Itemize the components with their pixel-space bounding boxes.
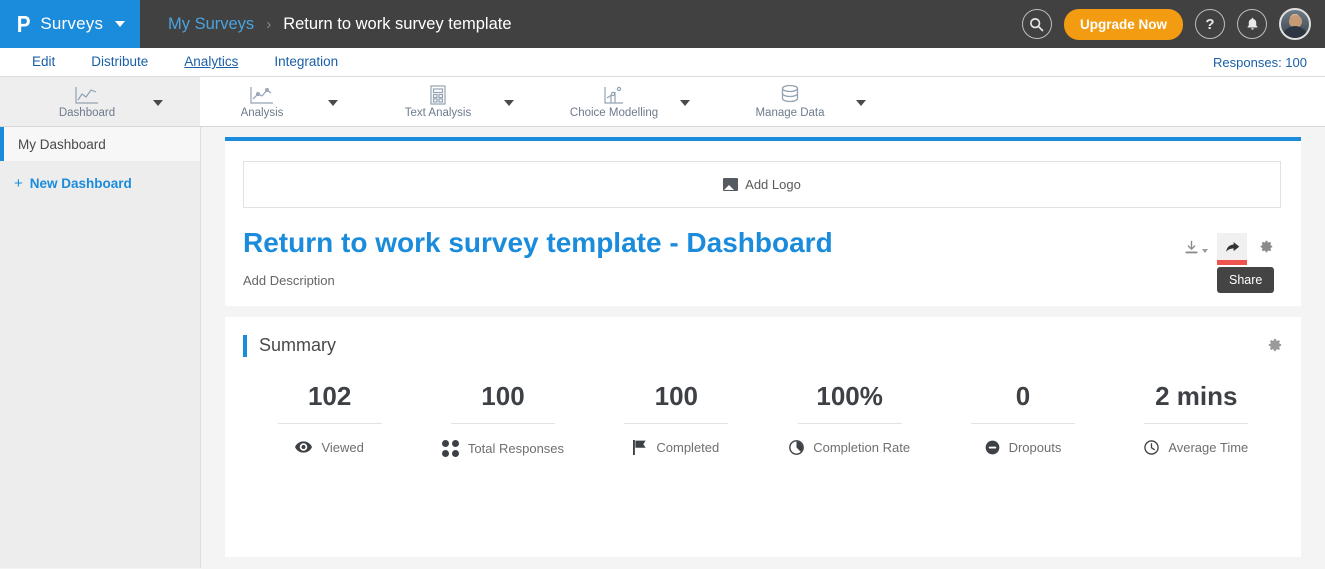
stat-value: 100 bbox=[655, 383, 698, 423]
dashboard-main: Add Logo Return to work survey template … bbox=[201, 127, 1325, 568]
stat-label: Total Responses bbox=[468, 441, 564, 456]
toolbar-item-manage-data[interactable]: Manage Data bbox=[730, 77, 850, 126]
toolbar-group-text-analysis: Text Analysis bbox=[376, 77, 552, 126]
stat-dropouts: 0 Dropouts bbox=[936, 383, 1109, 457]
stat-divider bbox=[1144, 423, 1248, 424]
stat-label-row: Viewed bbox=[295, 440, 363, 455]
stat-label-row: Dropouts bbox=[985, 440, 1062, 455]
dashboard-title-block: Return to work survey template - Dashboa… bbox=[243, 228, 1179, 288]
dashboard-action-buttons: Share bbox=[1179, 228, 1281, 261]
sidebar-item-label: My Dashboard bbox=[18, 137, 106, 152]
chevron-down-icon[interactable] bbox=[115, 21, 125, 27]
new-dashboard-label: New Dashboard bbox=[30, 176, 132, 191]
analytics-toolbar: Dashboard Analysis bbox=[0, 77, 1325, 127]
tab-edit[interactable]: Edit bbox=[14, 48, 73, 76]
four-dots-icon bbox=[442, 440, 459, 457]
document-grid-icon bbox=[427, 84, 449, 106]
toolbar-item-text-analysis[interactable]: Text Analysis bbox=[378, 77, 498, 126]
flag-icon bbox=[633, 440, 647, 455]
image-icon bbox=[723, 178, 738, 191]
stat-value: 102 bbox=[308, 383, 351, 423]
brand-label: Surveys bbox=[40, 14, 103, 34]
database-icon bbox=[778, 84, 802, 106]
choice-modelling-dropdown-caret-icon[interactable] bbox=[680, 100, 690, 106]
stat-completed: 100 Completed bbox=[590, 383, 763, 457]
stat-value: 100% bbox=[816, 383, 883, 423]
line-chart-icon bbox=[74, 84, 100, 106]
stat-label-row: Average Time bbox=[1144, 440, 1248, 455]
tab-distribute[interactable]: Distribute bbox=[73, 48, 166, 76]
stat-label: Viewed bbox=[321, 440, 363, 455]
stat-divider bbox=[278, 423, 382, 424]
toolbar-label-dashboard: Dashboard bbox=[59, 107, 115, 119]
tab-integration[interactable]: Integration bbox=[256, 48, 356, 76]
stat-label: Completed bbox=[656, 440, 719, 455]
eye-icon bbox=[295, 441, 312, 453]
notifications-bell-icon[interactable] bbox=[1237, 9, 1267, 39]
search-icon[interactable] bbox=[1022, 9, 1052, 39]
page-title[interactable]: Return to work survey template - Dashboa… bbox=[243, 228, 1179, 259]
summary-stats-row: 102 Viewed 100 bbox=[243, 383, 1283, 457]
stat-value: 2 mins bbox=[1155, 383, 1237, 423]
analysis-dropdown-caret-icon[interactable] bbox=[328, 100, 338, 106]
dashboard-sidebar: My Dashboard + New Dashboard bbox=[0, 127, 201, 568]
toolbar-item-analysis[interactable]: Analysis bbox=[202, 77, 322, 126]
toolbar-group-choice-modelling: Choice Modelling bbox=[552, 77, 728, 126]
toolbar-item-dashboard[interactable]: Dashboard bbox=[27, 77, 147, 126]
brand-home-button[interactable]: P Surveys bbox=[0, 0, 140, 48]
summary-settings-gear-icon[interactable] bbox=[1266, 337, 1283, 354]
stat-divider bbox=[971, 423, 1075, 424]
stat-label-row: Total Responses bbox=[442, 440, 564, 457]
stat-label: Dropouts bbox=[1009, 440, 1062, 455]
minus-circle-icon bbox=[985, 440, 1000, 455]
stat-label-row: Completed bbox=[633, 440, 719, 455]
clock-icon bbox=[1144, 440, 1159, 455]
tab-analytics[interactable]: Analytics bbox=[166, 48, 256, 76]
page-body: My Dashboard + New Dashboard Add Logo Re… bbox=[0, 127, 1325, 568]
upgrade-now-button[interactable]: Upgrade Now bbox=[1064, 9, 1183, 40]
stat-divider bbox=[624, 423, 728, 424]
stat-divider bbox=[798, 423, 902, 424]
toolbar-group-manage-data: Manage Data bbox=[728, 77, 904, 126]
toolbar-label-analysis: Analysis bbox=[241, 107, 284, 119]
share-button[interactable] bbox=[1217, 233, 1247, 261]
summary-card: Summary 102 bbox=[225, 317, 1301, 557]
download-dropdown-caret-icon[interactable] bbox=[1202, 249, 1208, 253]
stat-value: 0 bbox=[1016, 383, 1030, 423]
add-logo-button[interactable]: Add Logo bbox=[243, 161, 1281, 208]
breadcrumb-current-survey: Return to work survey template bbox=[283, 15, 511, 34]
toolbar-group-analysis: Analysis bbox=[200, 77, 376, 126]
dashboard-title-row: Return to work survey template - Dashboa… bbox=[243, 228, 1281, 288]
stat-completion-rate: 100% Completion Rate bbox=[763, 383, 936, 457]
help-icon[interactable]: ? bbox=[1195, 9, 1225, 39]
breadcrumb: My Surveys › Return to work survey templ… bbox=[140, 0, 1022, 48]
dashboard-header-card: Add Logo Return to work survey template … bbox=[225, 137, 1301, 306]
text-analysis-dropdown-caret-icon[interactable] bbox=[504, 100, 514, 106]
stat-divider bbox=[451, 423, 555, 424]
sidebar-item-my-dashboard[interactable]: My Dashboard bbox=[0, 127, 200, 161]
toolbar-label-manage-data: Manage Data bbox=[755, 107, 824, 119]
app-header: P Surveys My Surveys › Return to work su… bbox=[0, 0, 1325, 48]
stat-total-responses: 100 Total Responses bbox=[416, 383, 589, 457]
bar-scatter-icon bbox=[602, 84, 626, 106]
share-tooltip: Share bbox=[1217, 267, 1274, 293]
responses-count: Responses: 100 bbox=[1213, 55, 1311, 70]
header-actions: Upgrade Now ? bbox=[1022, 0, 1325, 48]
pie-chart-icon bbox=[789, 440, 804, 455]
user-avatar[interactable] bbox=[1279, 8, 1311, 40]
dashboard-description-placeholder[interactable]: Add Description bbox=[243, 273, 1179, 288]
breadcrumb-separator-icon: › bbox=[266, 16, 271, 33]
stat-label-row: Completion Rate bbox=[789, 440, 910, 455]
primary-tab-nav: Edit Distribute Analytics Integration Re… bbox=[0, 48, 1325, 77]
summary-accent-bar bbox=[243, 335, 247, 357]
share-active-indicator bbox=[1217, 260, 1247, 265]
toolbar-item-choice-modelling[interactable]: Choice Modelling bbox=[554, 77, 674, 126]
summary-title: Summary bbox=[259, 335, 336, 356]
toolbar-label-choice-modelling: Choice Modelling bbox=[570, 107, 658, 119]
dashboard-dropdown-caret-icon[interactable] bbox=[153, 100, 163, 106]
toolbar-group-dashboard: Dashboard bbox=[0, 77, 200, 126]
new-dashboard-button[interactable]: + New Dashboard bbox=[0, 165, 200, 201]
toolbar-label-text-analysis: Text Analysis bbox=[405, 107, 471, 119]
dashboard-settings-button[interactable] bbox=[1251, 233, 1281, 261]
breadcrumb-my-surveys[interactable]: My Surveys bbox=[168, 15, 254, 34]
stat-value: 100 bbox=[481, 383, 524, 423]
plus-icon: + bbox=[14, 175, 23, 192]
product-logo-icon: P bbox=[17, 13, 30, 36]
stat-label: Completion Rate bbox=[813, 440, 910, 455]
summary-header: Summary bbox=[243, 335, 1283, 357]
scatter-chart-icon bbox=[249, 84, 275, 106]
download-button[interactable] bbox=[1179, 233, 1213, 261]
stat-viewed: 102 Viewed bbox=[243, 383, 416, 457]
manage-data-dropdown-caret-icon[interactable] bbox=[856, 100, 866, 106]
add-logo-label: Add Logo bbox=[745, 177, 801, 192]
stat-average-time: 2 mins Average Time bbox=[1110, 383, 1283, 457]
stat-label: Average Time bbox=[1168, 440, 1248, 455]
